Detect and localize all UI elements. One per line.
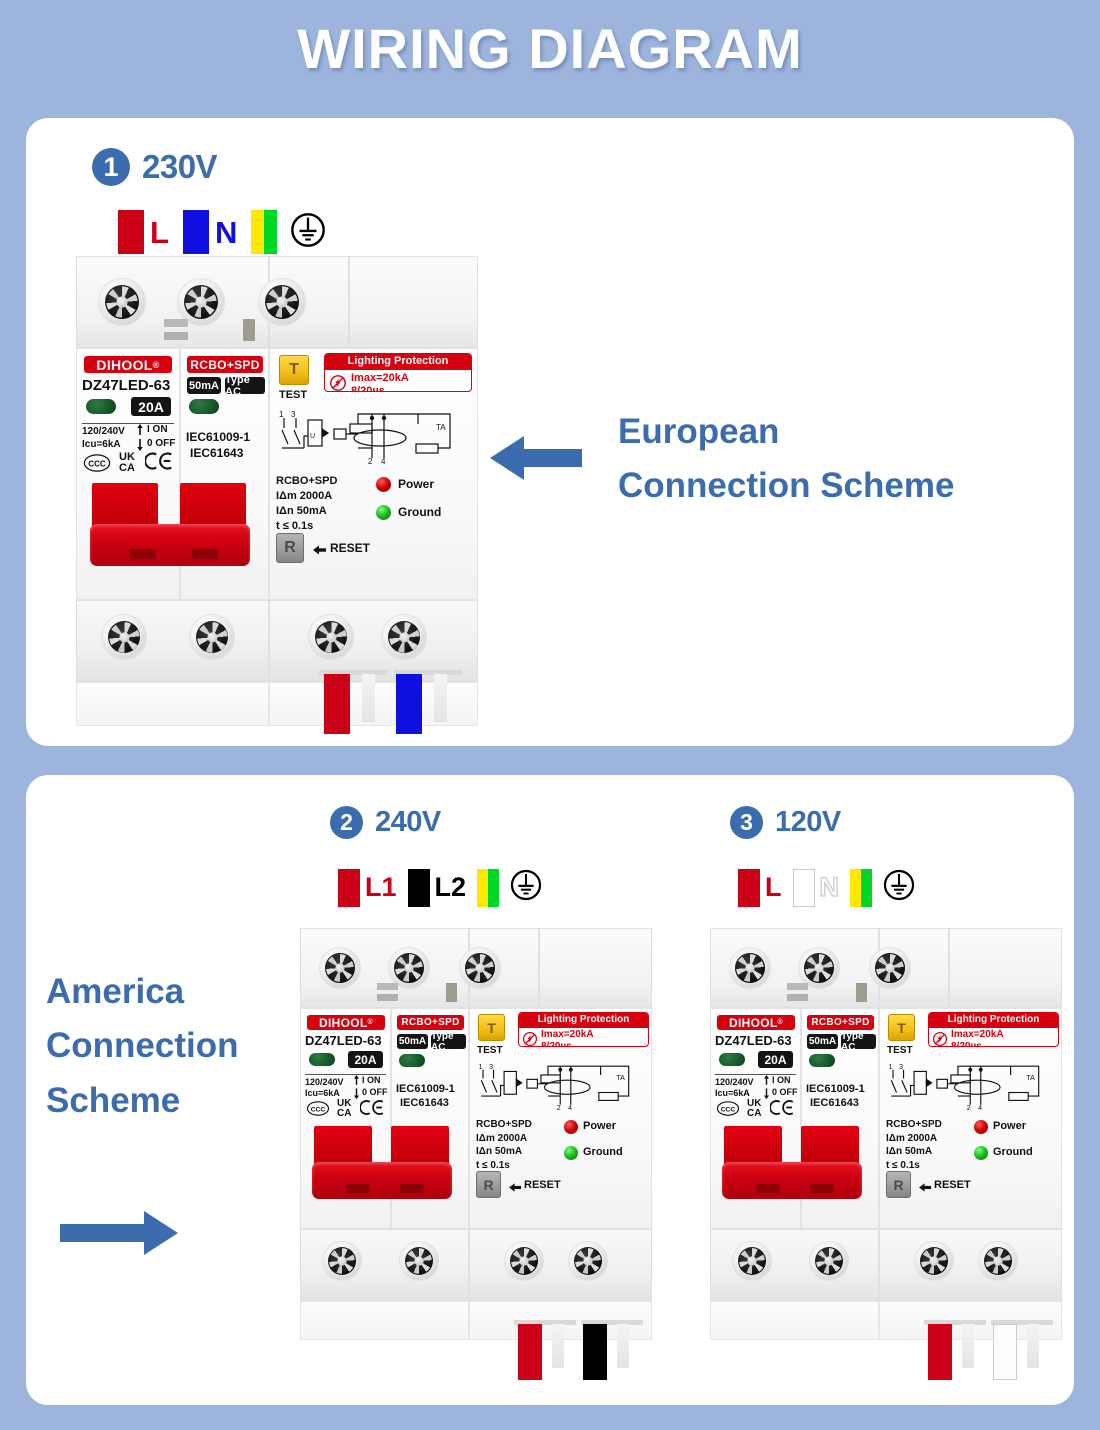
ccc-cert-icon: CCC <box>306 1101 330 1121</box>
output-wire-live <box>324 674 350 734</box>
internal-schematic: 1 3 2 4 TA <box>476 1060 648 1123</box>
lightning-protection-title: Lighting Protection <box>929 1013 1058 1028</box>
state-on-label: I ON <box>772 1075 791 1085</box>
legend-label-neutral: N <box>215 217 237 248</box>
terminal-screw-bottom-3 <box>308 614 354 660</box>
din-clip-a <box>787 983 808 990</box>
terminal-screw-bottom-3 <box>914 1241 954 1281</box>
reset-arrow-icon <box>509 1180 522 1198</box>
breaker-foot-left <box>710 1301 879 1340</box>
step-header-120v: 3 120V <box>730 806 841 839</box>
din-clip-b <box>787 994 808 1001</box>
terminal-screw-top-3 <box>869 947 911 989</box>
output-wire-neutral <box>396 674 422 734</box>
test-label: TEST <box>279 389 307 401</box>
svg-text:4: 4 <box>978 1105 982 1112</box>
current-rating-badge: 20A <box>131 397 171 416</box>
terminal-screw-bottom-3 <box>504 1241 544 1281</box>
spec-block: RCBO+SPD IΔm 2000A IΔn 50mA t ≤ 0.1s <box>276 474 337 533</box>
ccc-cert-icon: CCC <box>83 454 111 477</box>
step-header-230v: 1 230V <box>92 148 217 186</box>
breaking-capacity: Icu=6kA <box>82 439 121 450</box>
breaker-toggle-handle[interactable] <box>722 1162 862 1199</box>
spec-time: t ≤ 0.1s <box>886 1160 920 1171</box>
status-led-module2 <box>399 1054 425 1067</box>
din-clip-c <box>446 983 457 1002</box>
ukca-cert-label: UK CA <box>747 1099 761 1119</box>
european-scheme-caption: European Connection Scheme <box>618 405 954 514</box>
svg-text:2: 2 <box>368 457 373 466</box>
standard-iec61009: IEC61009-1 <box>396 1083 455 1095</box>
lightning-waveform: 8/20µs <box>351 385 385 392</box>
svg-text:U: U <box>310 433 315 440</box>
ce-cert-icon <box>145 451 175 476</box>
legend-120v: L N <box>738 868 916 907</box>
earth-ground-icon <box>509 868 543 907</box>
type-ac-badge: Type AC <box>431 1034 466 1049</box>
breaker-toggle-handle[interactable] <box>90 524 250 566</box>
breaker-foot-left <box>76 682 269 726</box>
terminal-screw-bottom-2 <box>399 1241 439 1281</box>
step-badge-3: 3 <box>730 806 763 839</box>
state-off-label: 0 OFF <box>362 1087 388 1097</box>
terminal-screw-bottom-1 <box>732 1241 772 1281</box>
ukca-cert-label: UK CA <box>337 1099 351 1119</box>
spec-ian: IΔn 50mA <box>476 1146 522 1157</box>
legend-label-neutral: N <box>820 874 840 901</box>
breaker-top-shell-right <box>349 256 478 348</box>
output-wire-neutral <box>993 1324 1017 1380</box>
reset-arrow-icon <box>919 1180 932 1198</box>
ground-indicator-led <box>564 1146 578 1160</box>
ukca-line2: CA <box>337 1108 351 1119</box>
svg-text:3: 3 <box>291 410 296 419</box>
internal-schematic: 1 3 2 4 TA <box>886 1060 1058 1123</box>
terminal-screw-top-3 <box>258 278 306 326</box>
svg-text:3: 3 <box>489 1064 493 1071</box>
step-voltage-120v: 120V <box>775 806 841 839</box>
legend-swatch-earth-120v <box>850 869 872 907</box>
step-badge-2: 2 <box>330 806 363 839</box>
status-led-module1 <box>309 1053 335 1066</box>
voltage-rating: 120/240V <box>82 426 125 437</box>
legend-230v: L N <box>118 210 327 254</box>
european-caption-line2: Connection Scheme <box>618 459 954 513</box>
test-button[interactable]: T <box>888 1014 915 1041</box>
din-clip-c <box>243 319 255 341</box>
arrow-right-icon <box>60 1205 178 1266</box>
breaking-capacity: Icu=6kA <box>715 1088 750 1098</box>
status-led-module1 <box>86 399 116 414</box>
din-clip-b <box>377 994 398 1001</box>
voltage-rating: 120/240V <box>305 1077 344 1087</box>
terminal-screw-top-3 <box>459 947 501 989</box>
brand-mark: ® <box>778 1019 783 1026</box>
standard-iec61009: IEC61009-1 <box>186 430 250 444</box>
ground-indicator-label: Ground <box>583 1146 623 1158</box>
svg-text:4: 4 <box>381 457 386 466</box>
legend-label-live: L <box>150 217 169 248</box>
step-voltage-230v: 230V <box>142 148 217 186</box>
brand-badge: DIHOOL® <box>717 1015 795 1030</box>
power-indicator-led <box>376 477 391 492</box>
type-ac-badge: Type AC <box>225 377 265 394</box>
device-model: DZ47LED-63 <box>82 377 170 394</box>
test-label: TEST <box>887 1045 913 1056</box>
leakage-rating-badge: 50mA <box>187 377 221 394</box>
output-wire-spare-1 <box>362 674 375 722</box>
rcbo-spd-header: RCBO+SPD <box>397 1015 464 1030</box>
lightning-protection-title: Lighting Protection <box>519 1013 648 1028</box>
legend-swatch-l1 <box>338 869 360 907</box>
america-caption-line2: Connection <box>46 1019 238 1073</box>
din-clip-b <box>164 332 188 340</box>
svg-text:2: 2 <box>557 1105 561 1112</box>
ce-cert-icon <box>770 1099 796 1121</box>
test-button[interactable]: T <box>279 355 309 385</box>
power-indicator-led <box>564 1120 578 1134</box>
lightning-waveform: 8/20µs <box>951 1041 982 1048</box>
spec-iam: IΔm 2000A <box>476 1133 527 1144</box>
breaker-assembly-120v: DIHOOL® DZ47LED-63 20A 120/240V Icu=6kA … <box>710 928 1062 1340</box>
breaker-assembly-230v: DIHOOL® DZ47LED-63 20A 120/240V Icu=6kA … <box>76 256 478 726</box>
standard-iec61643: IEC61643 <box>400 1097 449 1109</box>
terminal-screw-bottom-4 <box>381 614 427 660</box>
surge-icon <box>522 1031 538 1047</box>
breaking-capacity: Icu=6kA <box>305 1088 340 1098</box>
test-button[interactable]: T <box>478 1014 505 1041</box>
voltage-rating: 120/240V <box>715 1077 754 1087</box>
legend-240v: L1 L2 <box>338 868 543 907</box>
earth-ground-icon <box>289 211 327 254</box>
power-indicator-label: Power <box>398 477 434 491</box>
output-wire-l2 <box>583 1324 607 1380</box>
arrow-left-icon <box>490 430 582 491</box>
status-led-module1 <box>719 1053 745 1066</box>
breaker-top-shell-right <box>539 928 652 1008</box>
terminal-screw-top-1 <box>729 947 771 989</box>
svg-text:1: 1 <box>279 410 284 419</box>
america-caption-line1: America <box>46 965 238 1019</box>
state-on-label: I ON <box>147 424 168 435</box>
step-voltage-240v: 240V <box>375 806 441 839</box>
legend-swatch-live <box>118 210 144 254</box>
spec-block: RCBO+SPD IΔm 2000A IΔn 50mA t ≤ 0.1s <box>886 1118 942 1172</box>
spec-ian: IΔn 50mA <box>886 1146 932 1157</box>
output-wire-spare-2 <box>1027 1324 1039 1368</box>
brand-badge: DIHOOL® <box>307 1015 385 1030</box>
legend-swatch-neutral <box>793 869 815 907</box>
terminal-screw-bottom-4 <box>978 1241 1018 1281</box>
spec-time: t ≤ 0.1s <box>476 1160 510 1171</box>
america-scheme-caption: America Connection Scheme <box>46 965 238 1128</box>
brand-name: DIHOOL <box>96 357 152 373</box>
reset-button[interactable]: R <box>276 533 304 563</box>
legend-swatch-neutral <box>183 210 209 254</box>
on-off-indicator <box>135 424 145 457</box>
reset-label: RESET <box>524 1179 561 1191</box>
svg-text:CCC: CCC <box>721 1107 736 1114</box>
surge-icon <box>329 374 347 392</box>
reset-button[interactable]: R <box>476 1171 501 1198</box>
din-clip-c <box>856 983 867 1002</box>
step-badge-1: 1 <box>92 148 130 186</box>
spec-title: RCBO+SPD <box>476 1119 532 1130</box>
svg-text:TA: TA <box>616 1075 625 1082</box>
spec-block: RCBO+SPD IΔm 2000A IΔn 50mA t ≤ 0.1s <box>476 1118 532 1172</box>
legend-swatch-earth-240v <box>477 869 499 907</box>
terminal-screw-bottom-2 <box>189 614 235 660</box>
status-led-module2 <box>189 399 219 414</box>
spec-time: t ≤ 0.1s <box>276 520 313 532</box>
legend-label-live: L <box>765 874 782 901</box>
current-rating-badge: 20A <box>758 1051 793 1068</box>
lightning-protection-box: Lighting Protection Imax=20kA 8/20µs <box>518 1012 649 1047</box>
svg-text:1: 1 <box>889 1064 893 1071</box>
output-wire-l1 <box>518 1324 542 1380</box>
current-rating-badge: 20A <box>348 1051 383 1068</box>
spec-iam: IΔm 2000A <box>886 1133 937 1144</box>
ukca-line2: CA <box>119 462 135 474</box>
legend-swatch-l2 <box>408 869 430 907</box>
european-caption-line1: European <box>618 405 954 459</box>
output-wire-spare-1 <box>552 1324 564 1368</box>
rcbo-spd-header: RCBO+SPD <box>807 1015 874 1030</box>
rcbo-spd-header: RCBO+SPD <box>187 356 263 373</box>
terminal-screw-bottom-1 <box>101 614 147 660</box>
power-indicator-label: Power <box>993 1120 1026 1132</box>
breaker-bottom-shell-right <box>469 1229 652 1301</box>
status-led-module2 <box>809 1054 835 1067</box>
svg-text:2: 2 <box>967 1105 971 1112</box>
ground-indicator-label: Ground <box>398 505 441 519</box>
leakage-rating-badge: 50mA <box>397 1034 428 1049</box>
terminal-screw-bottom-4 <box>568 1241 608 1281</box>
breaker-top-shell-right <box>949 928 1062 1008</box>
spec-ian: IΔn 50mA <box>276 505 327 517</box>
lightning-imax: Imax=20kA <box>951 1029 1004 1040</box>
ground-indicator-label: Ground <box>993 1146 1033 1158</box>
spec-title: RCBO+SPD <box>886 1119 942 1130</box>
output-wire-spare-2 <box>434 674 447 722</box>
test-label: TEST <box>477 1045 503 1056</box>
svg-text:4: 4 <box>568 1105 572 1112</box>
reset-label: RESET <box>934 1179 971 1191</box>
lightning-protection-title: Lighting Protection <box>325 354 471 370</box>
legend-label-l1: L1 <box>365 874 397 901</box>
legend-swatch-live <box>738 869 760 907</box>
type-ac-badge: Type AC <box>841 1034 876 1049</box>
ccc-cert-icon: CCC <box>716 1101 740 1121</box>
standard-iec61009: IEC61009-1 <box>806 1083 865 1095</box>
page-title: WIRING DIAGRAM <box>0 0 1100 81</box>
earth-ground-icon <box>882 868 916 907</box>
reset-label: RESET <box>330 541 370 555</box>
state-off-label: 0 OFF <box>147 438 175 449</box>
svg-text:TA: TA <box>436 423 446 432</box>
terminal-screw-top-1 <box>319 947 361 989</box>
terminal-screw-bottom-2 <box>809 1241 849 1281</box>
output-wire-live <box>928 1324 952 1380</box>
brand-mark: ® <box>368 1019 373 1026</box>
surge-icon <box>932 1031 948 1047</box>
din-clip-a <box>164 319 188 327</box>
legend-label-l2: L2 <box>435 874 467 901</box>
output-wire-spare-2 <box>617 1324 629 1368</box>
power-indicator-label: Power <box>583 1120 616 1132</box>
lightning-imax: Imax=20kA <box>541 1029 594 1040</box>
reset-button[interactable]: R <box>886 1171 911 1198</box>
breaker-foot-left <box>300 1301 469 1340</box>
breaker-bottom-shell-right <box>879 1229 1062 1301</box>
svg-text:3: 3 <box>899 1064 903 1071</box>
legend-swatch-earth <box>251 210 277 254</box>
breaker-toggle-handle[interactable] <box>312 1162 452 1199</box>
step-header-240v: 2 240V <box>330 806 441 839</box>
spec-iam: IΔm 2000A <box>276 490 332 502</box>
ukca-line2: CA <box>747 1108 761 1119</box>
standard-iec61643: IEC61643 <box>810 1097 859 1109</box>
ground-indicator-led <box>376 505 391 520</box>
internal-schematic: 1 3 2 4 TA U <box>276 408 472 477</box>
device-model: DZ47LED-63 <box>715 1033 792 1048</box>
leakage-rating-badge: 50mA <box>807 1034 838 1049</box>
brand-name: DIHOOL <box>729 1016 777 1030</box>
lightning-imax: Imax=20kA <box>351 372 409 384</box>
brand-mark: ® <box>153 360 160 370</box>
svg-text:1: 1 <box>479 1064 483 1071</box>
spec-title: RCBO+SPD <box>276 475 337 487</box>
ukca-cert-label: UK CA <box>119 452 135 474</box>
lightning-waveform: 8/20µs <box>541 1041 572 1048</box>
terminal-screw-top-1 <box>98 278 146 326</box>
svg-text:TA: TA <box>1026 1075 1035 1082</box>
terminal-screw-bottom-1 <box>322 1241 362 1281</box>
breaker-assembly-240v: DIHOOL® DZ47LED-63 20A 120/240V Icu=6kA … <box>300 928 652 1340</box>
america-caption-line3: Scheme <box>46 1074 238 1128</box>
reset-arrow-icon <box>313 543 327 561</box>
state-off-label: 0 OFF <box>772 1087 798 1097</box>
ce-cert-icon <box>360 1099 386 1121</box>
standard-iec61643: IEC61643 <box>190 446 243 460</box>
din-clip-a <box>377 983 398 990</box>
ground-indicator-led <box>974 1146 988 1160</box>
output-wire-spare-1 <box>962 1324 974 1368</box>
device-model: DZ47LED-63 <box>305 1033 382 1048</box>
brand-name: DIHOOL <box>319 1016 367 1030</box>
brand-badge: DIHOOL® <box>84 356 172 373</box>
svg-text:CCC: CCC <box>311 1107 326 1114</box>
lightning-protection-box: Lighting Protection Imax=20kA 8/20µs <box>928 1012 1059 1047</box>
power-indicator-led <box>974 1120 988 1134</box>
svg-text:CCC: CCC <box>88 460 106 469</box>
state-on-label: I ON <box>362 1075 381 1085</box>
lightning-protection-box: Lighting Protection Imax=20kA 8/20µs <box>324 353 472 392</box>
